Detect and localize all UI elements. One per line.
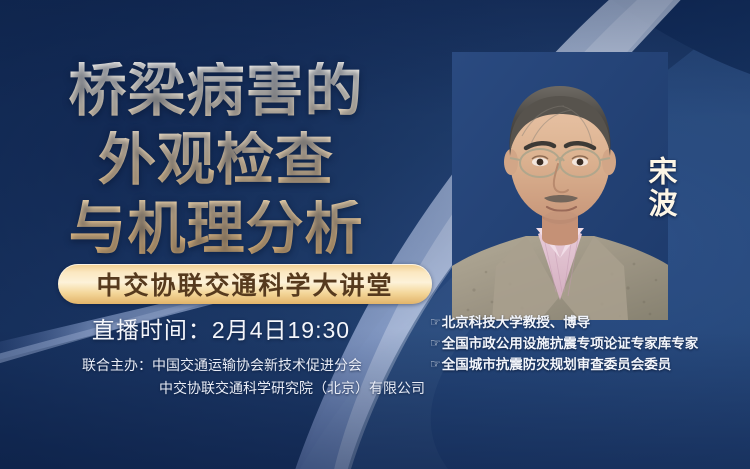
title-line-2: 外观检查 [0,131,432,189]
title-line-3: 与机理分析 [0,200,432,258]
organizers: 联合主办：中国交通运输协会新技术促进分会 中交协联交通科学研究院（北京）有限公司 [82,354,442,399]
credential-row: ☞ 全国市政公用设施抗震专项论证专家库专家 [430,334,742,355]
credential-text: 北京科技大学教授、博导 [442,313,591,334]
credential-row: ☞ 北京科技大学教授、博导 [430,313,742,334]
speaker-credentials: ☞ 北京科技大学教授、博导 ☞ 全国市政公用设施抗震专项论证专家库专家 ☞ 全国… [430,313,742,376]
title-line-1: 桥梁病害的 [0,62,432,120]
credential-row: ☞ 全国城市抗震防灾规划审查委员会委员 [430,355,742,376]
pointing-hand-icon: ☞ [430,313,441,332]
organizer-line-1: 联合主办：中国交通运输协会新技术促进分会 [82,354,442,377]
pointing-hand-icon: ☞ [430,334,441,353]
credential-text: 全国城市抗震防灾规划审查委员会委员 [442,355,672,376]
credential-text: 全国市政公用设施抗震专项论证专家库专家 [442,334,699,355]
series-badge-label: 中交协联交通科学大讲堂 [96,266,393,302]
speaker-name: 宋波 [636,156,678,220]
series-badge: 中交协联交通科学大讲堂 [58,264,432,304]
page-title: 桥梁病害的 外观检查 与机理分析 [0,62,432,269]
webinar-poster: 宋波 桥梁病害的 外观检查 与机理分析 中交协联交通科学大讲堂 直播时间：2月4… [0,0,750,469]
pointing-hand-icon: ☞ [430,355,441,374]
live-time: 直播时间：2月4日19:30 [0,311,442,345]
organizer-line-2: 中交协联交通科学研究院（北京）有限公司 [82,377,442,400]
